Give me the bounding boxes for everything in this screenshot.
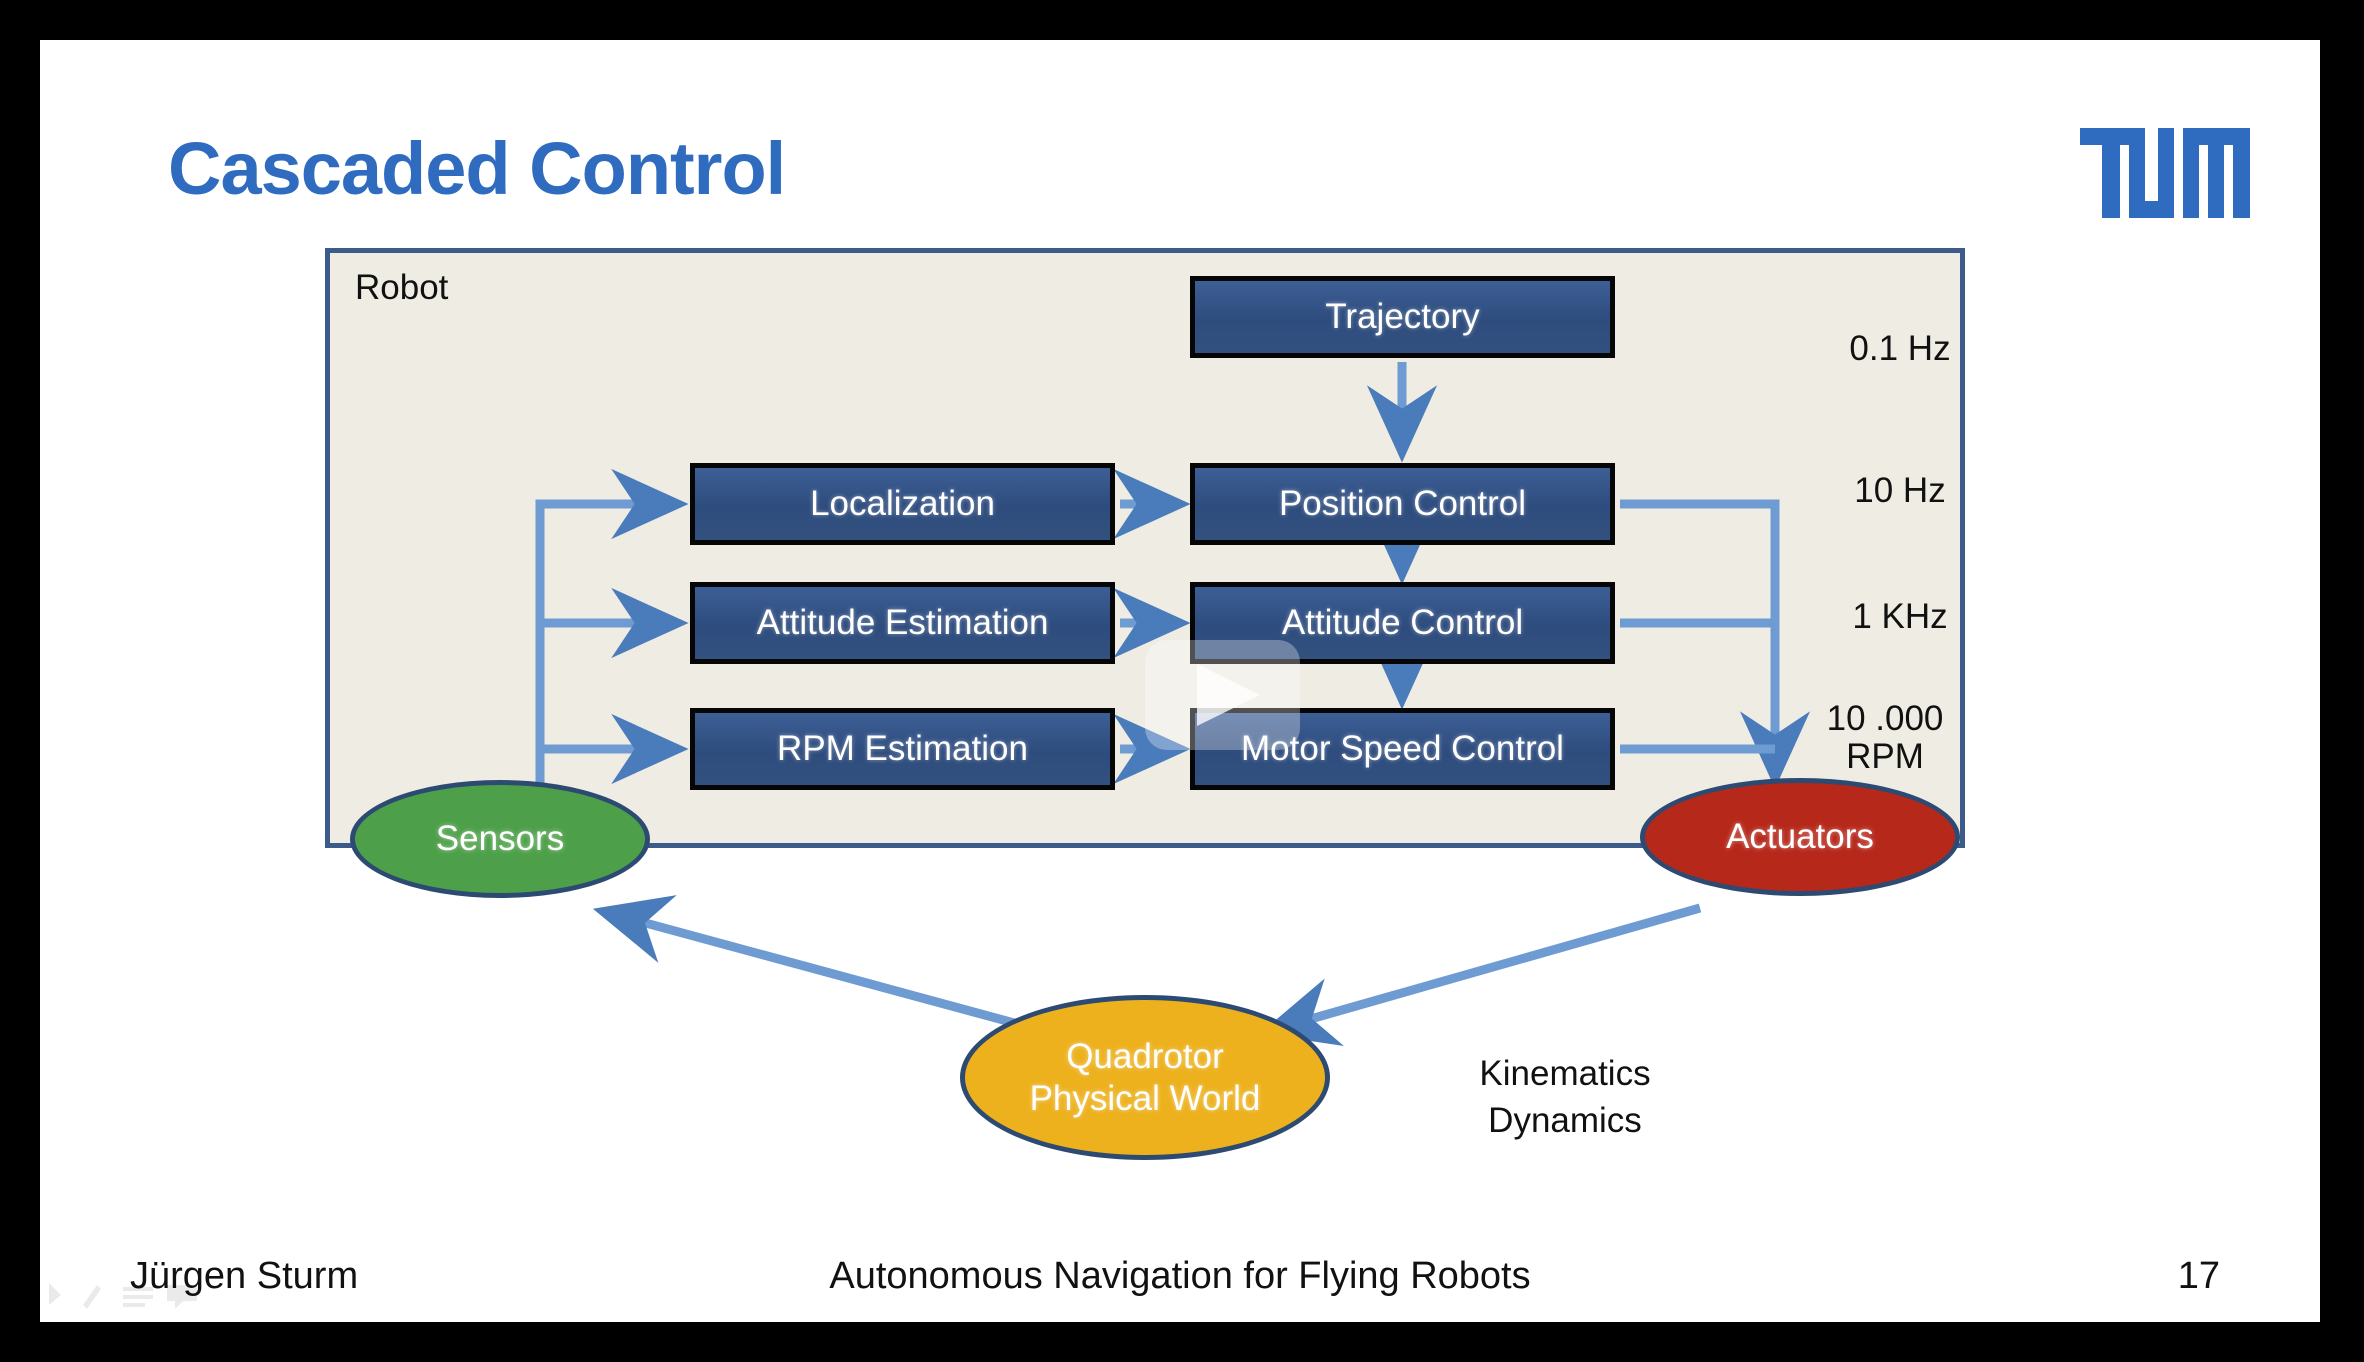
- node-quadrotor-line1: Quadrotor: [1066, 1037, 1224, 1076]
- kinematics-dynamics-annotation: Kinematics Dynamics: [1430, 1050, 1700, 1145]
- node-sensors[interactable]: Sensors: [350, 780, 650, 898]
- node-quadrotor-line2: Physical World: [1030, 1079, 1261, 1118]
- annotation-toolbar-watermark: [45, 1275, 205, 1315]
- node-actuators[interactable]: Actuators: [1640, 778, 1960, 896]
- rate-label-motor: 10 .000 RPM: [1770, 700, 2000, 776]
- annotation-line2: Dynamics: [1488, 1101, 1642, 1140]
- rate-label-position: 10 Hz: [1785, 472, 2015, 510]
- footer-course: Autonomous Navigation for Flying Robots: [40, 1255, 2320, 1298]
- rate-label-motor-line2: RPM: [1846, 737, 1924, 776]
- box-localization[interactable]: Localization: [690, 463, 1115, 545]
- box-rpm-estimation[interactable]: RPM Estimation: [690, 708, 1115, 790]
- rate-label-attitude: 1 KHz: [1785, 598, 2015, 636]
- footer-page-number: 17: [2178, 1255, 2220, 1298]
- robot-container: [325, 248, 1965, 848]
- video-letterbox-frame: Cascaded Control Robot: [0, 0, 2364, 1362]
- rate-label-motor-line1: 10 .000: [1827, 699, 1944, 738]
- node-quadrotor-physical-world[interactable]: Quadrotor Physical World: [960, 995, 1330, 1160]
- play-button-overlay-icon[interactable]: [1145, 640, 1300, 750]
- box-trajectory[interactable]: Trajectory: [1190, 276, 1615, 358]
- robot-container-label: Robot: [355, 268, 448, 308]
- slide-canvas: Cascaded Control Robot: [40, 40, 2320, 1322]
- box-attitude-estimation[interactable]: Attitude Estimation: [690, 582, 1115, 664]
- tum-logo-icon: [2080, 128, 2250, 218]
- box-position-control[interactable]: Position Control: [1190, 463, 1615, 545]
- rate-label-trajectory: 0.1 Hz: [1785, 330, 2015, 368]
- annotation-line1: Kinematics: [1479, 1054, 1650, 1093]
- page-title: Cascaded Control: [168, 126, 785, 211]
